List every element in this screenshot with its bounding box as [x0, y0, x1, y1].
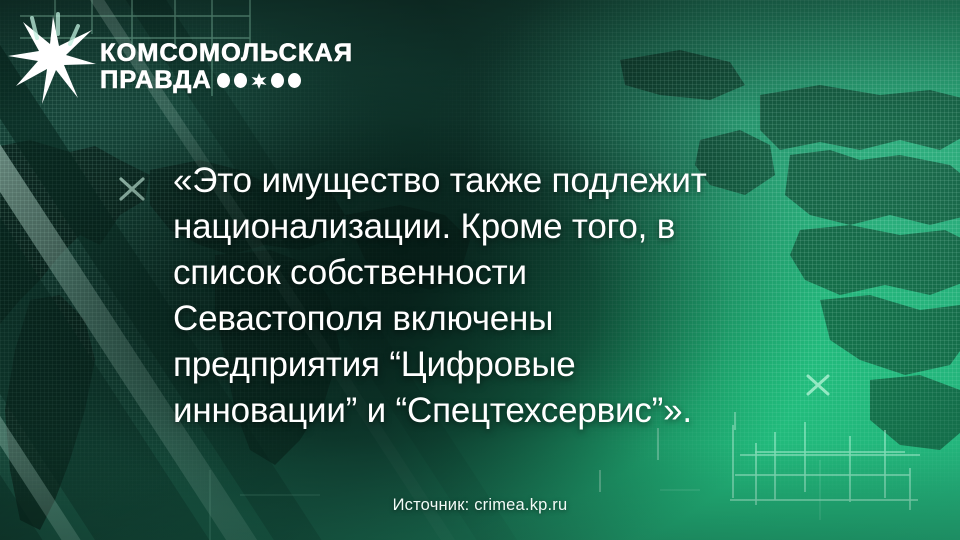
kp-star-logo-icon — [6, 12, 98, 108]
quote-line: национализации. Кроме того, в — [173, 204, 813, 250]
kp-logo-pravda: ПРАВДА — [100, 68, 212, 93]
kp-logo-wordmark: КОМСОМОЛЬСКАЯ ПРАВДА — [100, 41, 348, 93]
kp-logo-komsomolskaya: КОМСОМОЛЬСКАЯ — [100, 41, 353, 66]
source-attribution: Источник: crimea.kp.ru — [0, 496, 960, 515]
kp-logo[interactable]: КОМСОМОЛЬСКАЯ ПРАВДА — [6, 12, 348, 108]
quote-block: «Это имущество также подлежит национализ… — [173, 158, 813, 434]
kp-logo-dot-1 — [217, 73, 230, 88]
kp-logo-dot-5 — [288, 73, 301, 88]
kp-logo-dot-2 — [234, 73, 247, 88]
quote-line: «Это имущество также подлежит — [173, 158, 813, 204]
quote-line: Севастополя включены — [173, 296, 813, 342]
quote-line: инновации” и “Спецтехсервис”». — [173, 388, 813, 434]
quote-line: предприятия “Цифровые — [173, 342, 813, 388]
kp-logo-dot-4 — [271, 73, 284, 88]
quote-line: список собственности — [173, 250, 813, 296]
kp-logo-dot-star-icon — [251, 73, 267, 89]
broadcast-quote-card: КОМСОМОЛЬСКАЯ ПРАВДА «Это имущество такж… — [0, 0, 960, 540]
kp-logo-dots — [217, 73, 301, 89]
kp-logo-line-2: ПРАВДА — [100, 68, 348, 93]
kp-logo-line-1: КОМСОМОЛЬСКАЯ — [100, 41, 348, 66]
